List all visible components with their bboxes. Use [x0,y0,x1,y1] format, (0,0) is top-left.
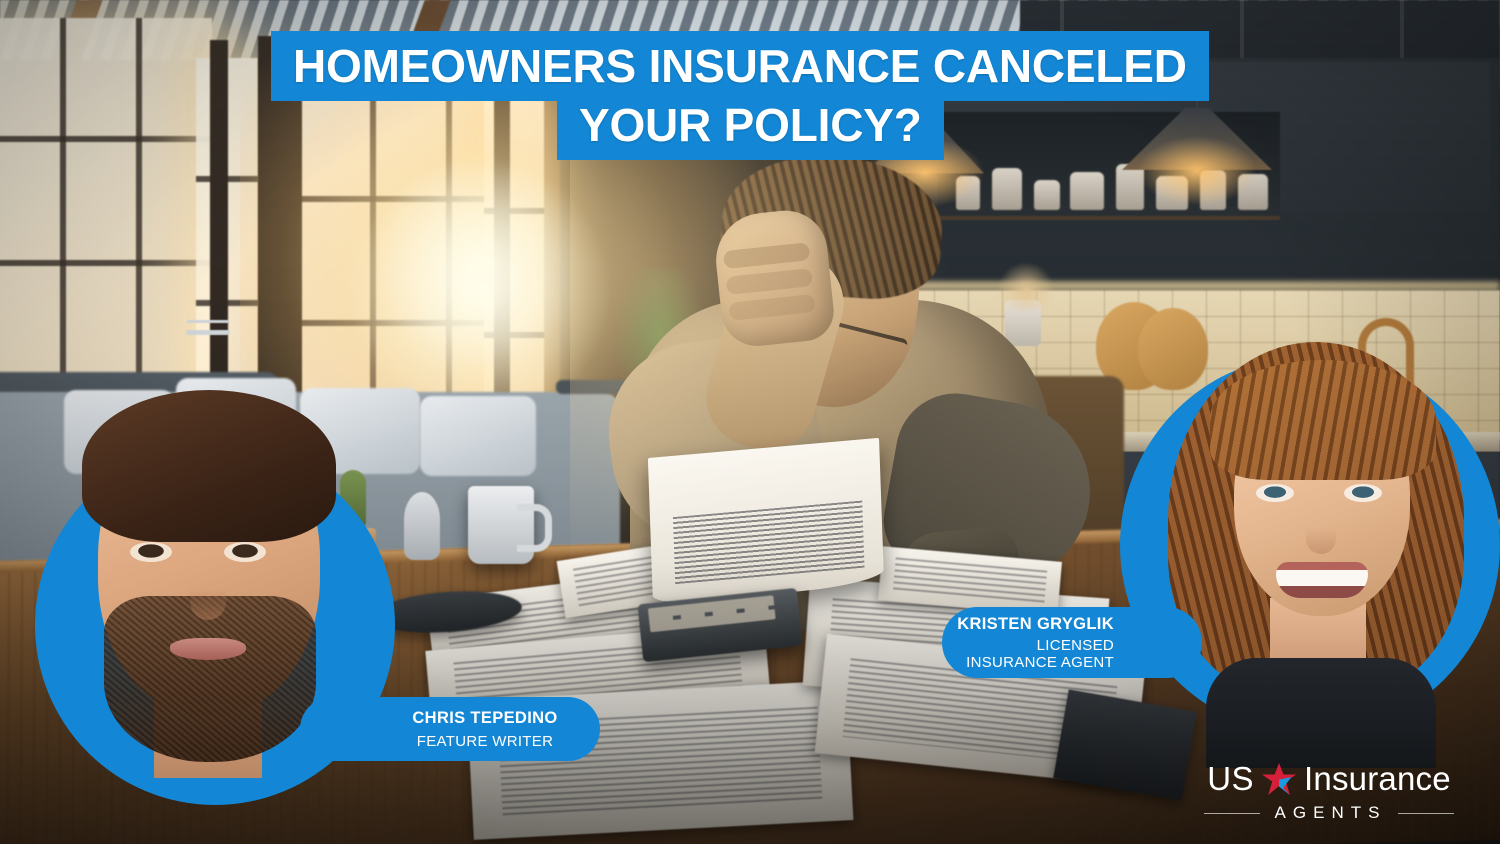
eye-left [1256,484,1294,502]
hair-fringe [1210,360,1436,480]
star-icon [1262,763,1296,795]
headline-line-2: YOUR POLICY? [557,90,944,160]
eye-left [130,542,172,562]
eye-right [224,542,266,562]
logo-subline: AGENTS [1190,803,1468,823]
brand-logo[interactable]: US Insurance AGENTS [1190,760,1468,823]
logo-text-us: US [1207,760,1254,798]
contributor-role: LICENSED INSURANCE AGENT [942,637,1114,671]
pendant-light [1122,108,1272,180]
logo-text-insurance: Insurance [1304,760,1451,798]
shoulders [1206,658,1436,768]
nose [190,568,226,620]
eye-right [1344,484,1382,502]
nose [1306,510,1336,554]
logo-wordmark: US Insurance [1190,760,1468,798]
cushion [420,396,536,476]
beard [104,596,316,762]
contributor-role: FEATURE WRITER [417,733,553,750]
door-handle [186,330,230,335]
logo-rule-left [1204,813,1260,814]
byline-kristen-gryglik: KRISTEN GRYGLIK LICENSED INSURANCE AGENT [942,607,1202,678]
man-hand-on-head [711,207,836,350]
logo-text-agents: AGENTS [1272,803,1387,823]
smile [1276,562,1368,598]
logo-rule-right [1398,813,1454,814]
hair [82,390,336,542]
contributor-name: KRISTEN GRYGLIK [957,615,1114,634]
coffee-mug [468,486,534,564]
carafe [404,492,440,560]
contributor-name: CHRIS TEPEDINO [412,709,557,728]
held-letter [648,438,884,604]
star-red-part [1262,763,1296,795]
promo-graphic: HOMEOWNERS INSURANCE CANCELED YOUR POLIC… [0,0,1500,844]
mouth [170,638,246,660]
kristen-gryglik-headshot [1150,318,1480,738]
byline-chris-tepedino: CHRIS TEPEDINO FEATURE WRITER [300,697,600,761]
pendant-glow [1137,136,1257,206]
